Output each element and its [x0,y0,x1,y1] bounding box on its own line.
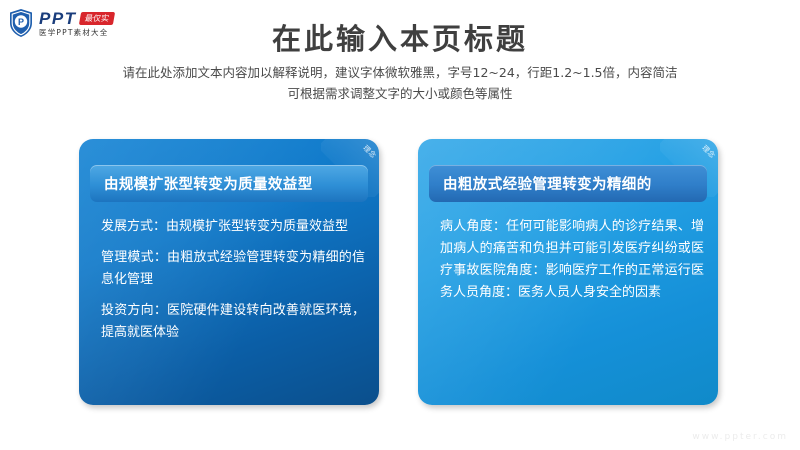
card-paragraph: 病人角度：任何可能影响病人的诊疗结果、增加病人的痛苦和负担并可能引发医疗纠纷或医… [440,216,704,304]
card-heading: 由规模扩张型转变为质量效益型 [104,173,313,194]
content-card-right[interactable]: 理念 由粗放式经验管理转变为精细的 病人角度：任何可能影响病人的诊疗结果、增加病… [418,139,718,405]
subtitle-line-2: 可根据需求调整文字的大小或颜色等属性 [0,83,800,104]
card-body: 发展方式：由规模扩张型转变为质量效益型 管理模式：由粗放式经验管理转变为精细的信… [101,216,365,353]
page-title: 在此输入本页标题 [0,16,800,58]
card-paragraph: 发展方式：由规模扩张型转变为质量效益型 [101,216,365,238]
content-card-left[interactable]: 理念 由规模扩张型转变为质量效益型 发展方式：由规模扩张型转变为质量效益型 管理… [79,139,379,405]
card-paragraph: 投资方向：医院硬件建设转向改善就医环境，提高就医体验 [101,300,365,344]
subtitle-line-1: 请在此处添加文本内容加以解释说明，建议字体微软雅黑，字号12~24，行距1.2~… [0,62,800,83]
card-heading: 由粗放式经验管理转变为精细的 [443,173,652,194]
card-body: 病人角度：任何可能影响病人的诊疗结果、增加病人的痛苦和负担并可能引发医疗纠纷或医… [440,216,704,304]
card-header-pill: 由规模扩张型转变为质量效益型 [90,165,368,202]
page-subtitle: 请在此处添加文本内容加以解释说明，建议字体微软雅黑，字号12~24，行距1.2~… [0,62,800,104]
card-header-pill: 由粗放式经验管理转变为精细的 [429,165,707,202]
card-paragraph: 管理模式：由粗放式经验管理转变为精细的信息化管理 [101,247,365,291]
site-watermark: www.ppter.com [692,432,788,442]
